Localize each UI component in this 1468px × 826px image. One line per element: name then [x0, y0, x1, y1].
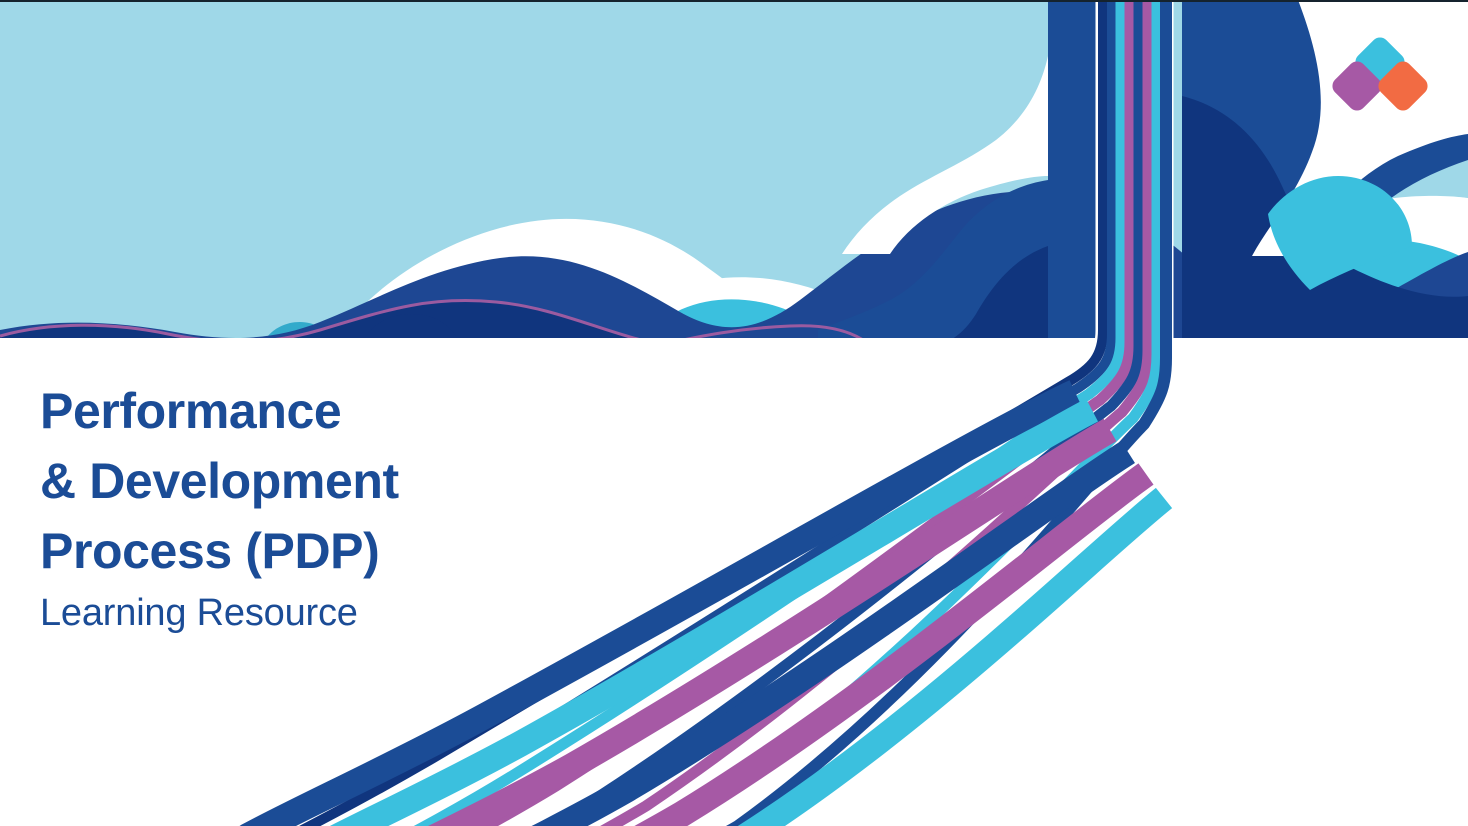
title-slide: Performance & Development Process (PDP) … — [0, 0, 1468, 826]
background-artwork — [0, 0, 1468, 826]
brand-logo: TM — [1331, 36, 1429, 122]
logo-trademark: TM — [1414, 111, 1428, 122]
top-edge-hairline — [0, 0, 1468, 2]
